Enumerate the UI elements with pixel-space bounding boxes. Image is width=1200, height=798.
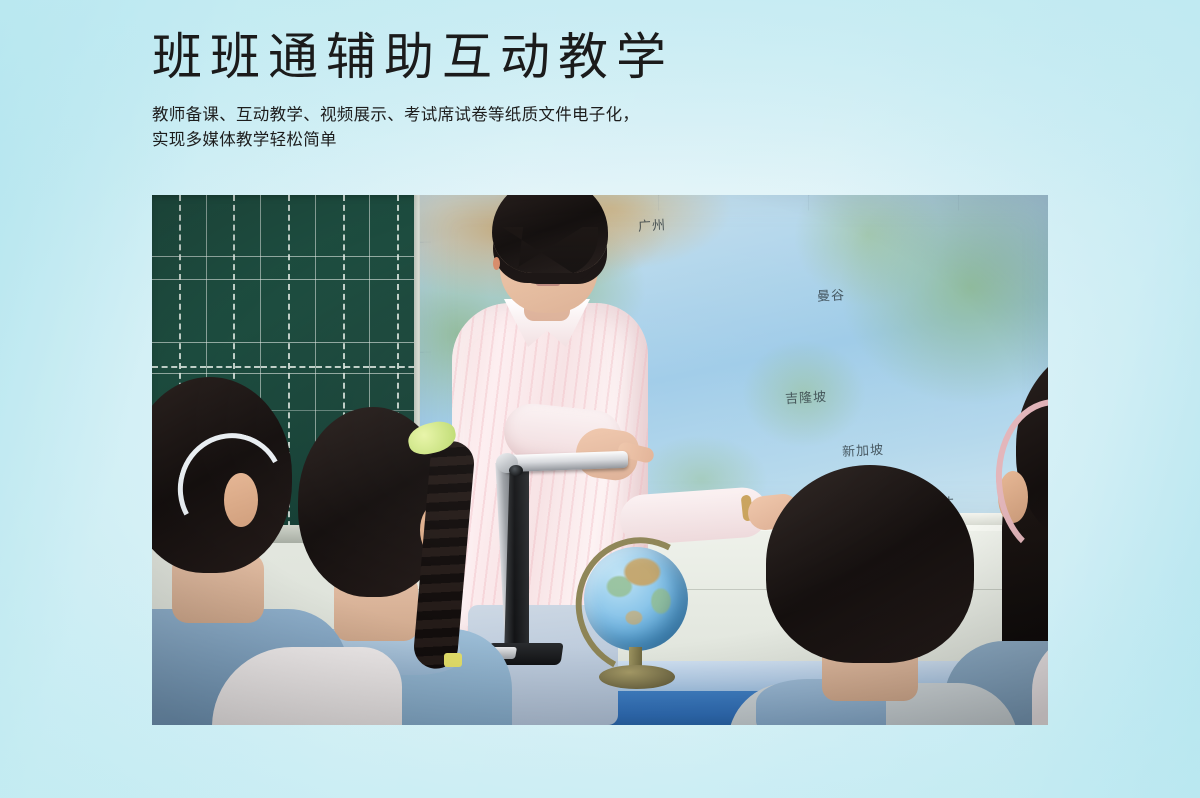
chalkboard-rule-line: [152, 279, 424, 343]
page-title: 班班通辅助互动教学: [152, 26, 1052, 88]
page-subtitle: 教师备课、互动教学、视频展示、考试席试卷等纸质文件电子化， 实现多媒体教学轻松简…: [152, 102, 1052, 152]
chalkboard-rule-line: [152, 195, 424, 257]
student-light-shirt-shoulder: [1032, 631, 1048, 725]
student-hair-tie: [444, 653, 462, 667]
heading-block: 班班通辅助互动教学 教师备课、互动教学、视频展示、考试席试卷等纸质文件电子化， …: [152, 26, 1052, 152]
teacher-hair: [492, 195, 608, 273]
student-head: [766, 465, 974, 663]
photo-scene: 广州 仰光 曼谷 金边 吉隆坡 新加坡 雅加达 河内: [152, 195, 1048, 725]
teacher-mouth: [536, 281, 560, 286]
document-camera-lens-icon: [509, 465, 523, 476]
globe-base: [599, 665, 675, 689]
classroom-photo: 广州 仰光 曼谷 金边 吉隆坡 新加坡 雅加达 河内: [152, 195, 1048, 725]
page-root: 班班通辅助互动教学 教师备课、互动教学、视频展示、考试席试卷等纸质文件电子化， …: [0, 0, 1200, 798]
student-bowl-cut: [752, 465, 1002, 725]
subtitle-line-1: 教师备课、互动教学、视频展示、考试席试卷等纸质文件电子化，: [152, 102, 1052, 127]
teacher-earring: [493, 257, 500, 270]
map-label: 广州: [637, 215, 666, 235]
map-label: 新加坡: [842, 439, 885, 460]
map-label: 曼谷: [816, 284, 845, 304]
map-label: 吉隆坡: [784, 386, 827, 407]
globe-sphere: [584, 547, 688, 651]
student-shoulders: [1032, 631, 1048, 725]
subtitle-line-2: 实现多媒体教学轻松简单: [152, 127, 1052, 152]
